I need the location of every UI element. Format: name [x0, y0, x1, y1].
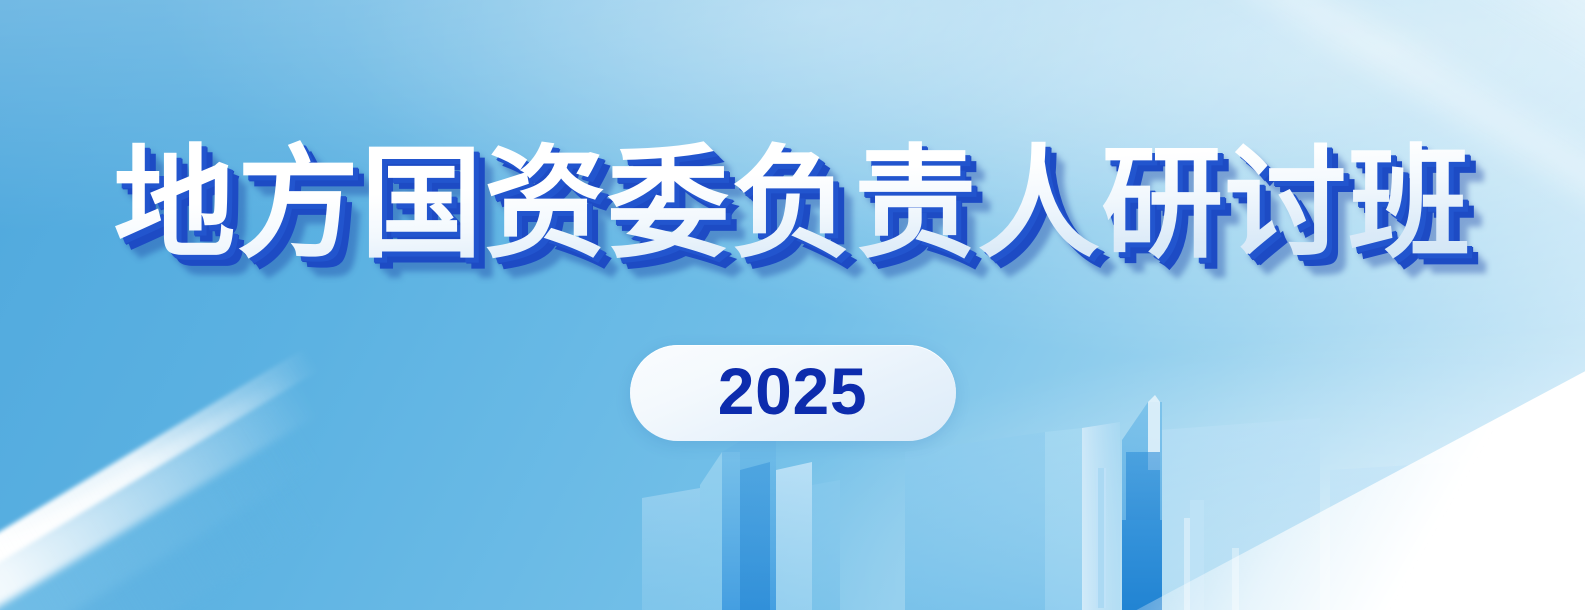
page-title: 地方国资委负责人研讨班	[113, 140, 1471, 269]
year-badge: 2025	[630, 345, 956, 441]
year-badge-area: 2025	[0, 345, 1585, 441]
event-banner: 地方国资委负责人研讨班 2025	[0, 0, 1585, 610]
banner-title-area: 地方国资委负责人研讨班	[0, 140, 1585, 269]
year-badge-label: 2025	[718, 358, 867, 428]
